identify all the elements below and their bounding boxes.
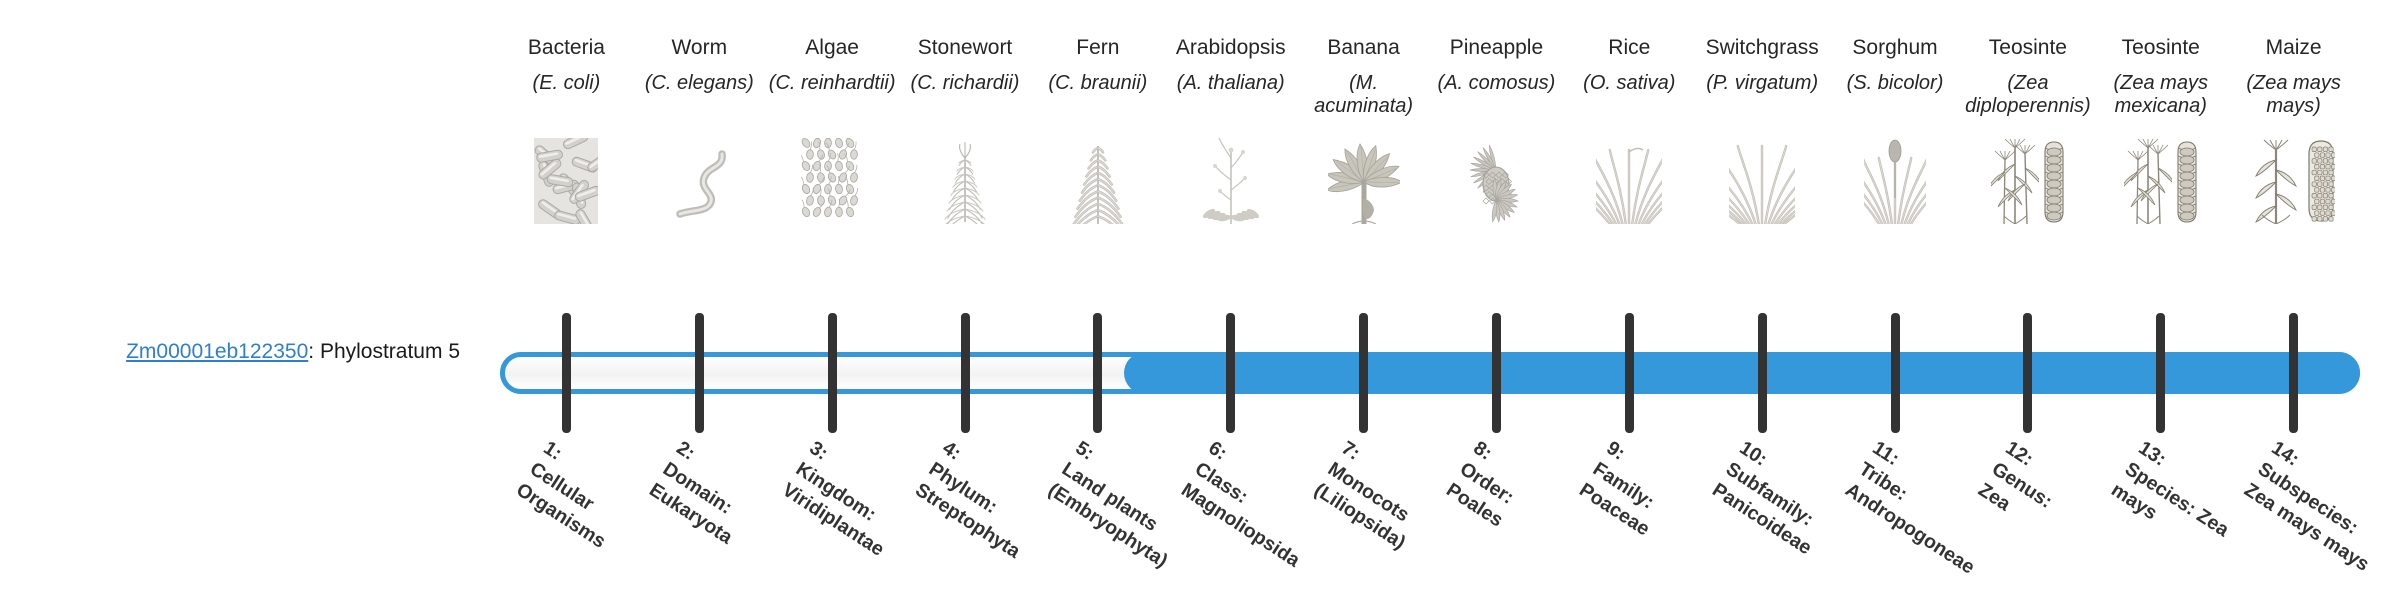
gene-phylostratum-label: Zm00001eb122350: Phylostratum 5 [40, 341, 460, 362]
phylostratum-value-label: Phylostratum 5 [320, 340, 460, 363]
phylostratigraphy-chart: Bacteria(E. coli)Worm(C. elegans)Algae(C… [500, 0, 2400, 580]
gene-id-link[interactable]: Zm00001eb122350 [126, 340, 308, 363]
label-separator: : [308, 340, 320, 363]
rank-label-layer: 1:CellularOrganisms2:Domain:Eukaryota3:K… [500, 0, 2360, 580]
